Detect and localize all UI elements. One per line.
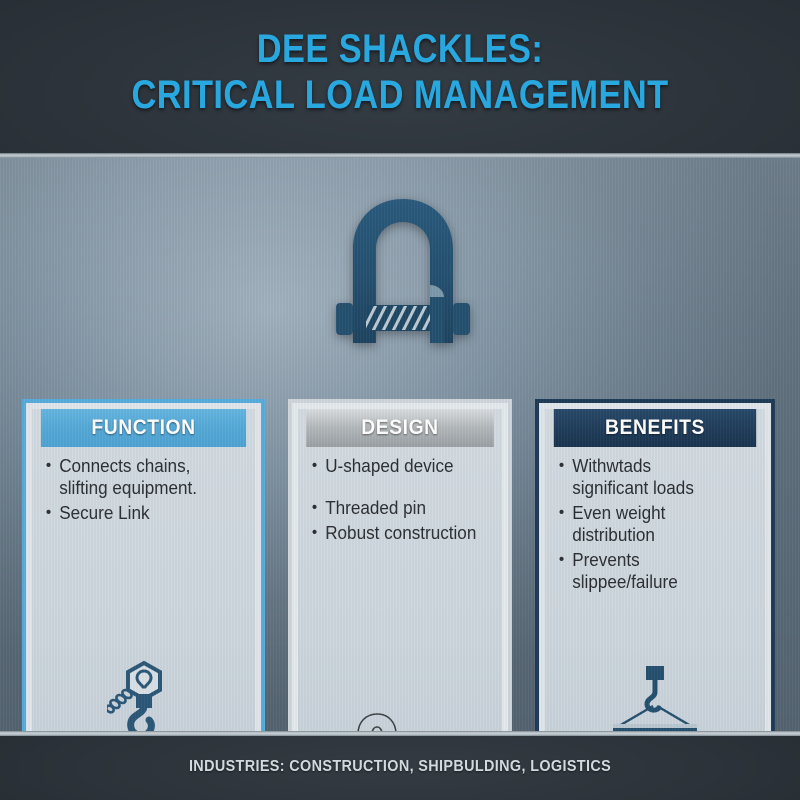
card-design-bullet-list: U-shaped device Threaded pin Robust cons… [310, 455, 492, 544]
card-function-body: Connects chains, slifting equipment. Sec… [32, 447, 255, 524]
page-title: DEE SHACKLES: CRITICAL LOAD MANAGEMENT [56, 26, 744, 118]
list-item: Connects chains, slifting equipment. [44, 455, 235, 499]
list-item: U-shaped device [310, 455, 483, 477]
dee-shackle-icon [318, 193, 488, 358]
title-line-1: DEE SHACKLES: [56, 26, 744, 72]
card-benefits[interactable]: BENEFITS Withwtads significant loads Eve… [535, 399, 775, 734]
card-benefits-heading: BENEFITS [554, 409, 756, 447]
header-bar: DEE SHACKLES: CRITICAL LOAD MANAGEMENT [0, 0, 800, 155]
card-function-bullet-list: Connects chains, slifting equipment. Sec… [44, 455, 245, 524]
list-item: Robust construction [310, 522, 483, 544]
shackle-outline-diagram-icon [314, 704, 424, 734]
list-item: Prevents slippee/failure [557, 549, 745, 593]
footer-industries-text: INDUSTRIES: CONSTRUCTION, SHIPBULDING, L… [40, 758, 760, 776]
card-design-body: U-shaped device Threaded pin Robust cons… [298, 447, 502, 544]
list-item: Secure Link [44, 502, 235, 524]
list-item: Withwtads significant loads [557, 455, 745, 499]
card-function-inner: FUNCTION Connects chains, slifting equip… [32, 409, 255, 734]
bullet-text: Connects chains, [59, 456, 190, 476]
card-benefits-inner: BENEFITS Withwtads significant loads Eve… [545, 409, 765, 734]
bullet-text-cont: significant loads [572, 478, 694, 498]
hook-lifting-load-icon [603, 662, 707, 734]
card-design[interactable]: DESIGN U-shaped device Threaded pin Robu… [288, 399, 512, 734]
card-function-icon-wrap [32, 656, 255, 734]
card-benefits-body: Withwtads significant loads Even weight … [545, 447, 765, 593]
bullet-text: Withwtads [572, 456, 651, 476]
main-stage: FUNCTION Connects chains, slifting equip… [0, 158, 800, 734]
infographic-poster: DEE SHACKLES: CRITICAL LOAD MANAGEMENT [0, 0, 800, 800]
bullet-text-cont: slifting equipment. [59, 478, 197, 498]
crane-hook-with-chain-icon [107, 656, 181, 734]
card-design-icon-wrap [298, 704, 502, 734]
card-design-inner: DESIGN U-shaped device Threaded pin Robu… [298, 409, 502, 734]
card-design-heading: DESIGN [306, 409, 494, 447]
list-item: Even weight distribution [557, 502, 745, 546]
card-function-heading: FUNCTION [41, 409, 246, 447]
list-item: Threaded pin [310, 497, 483, 519]
card-benefits-icon-wrap [545, 662, 765, 734]
card-benefits-bullet-list: Withwtads significant loads Even weight … [557, 455, 755, 593]
card-function[interactable]: FUNCTION Connects chains, slifting equip… [22, 399, 265, 734]
title-line-2: CRITICAL LOAD MANAGEMENT [56, 72, 744, 118]
